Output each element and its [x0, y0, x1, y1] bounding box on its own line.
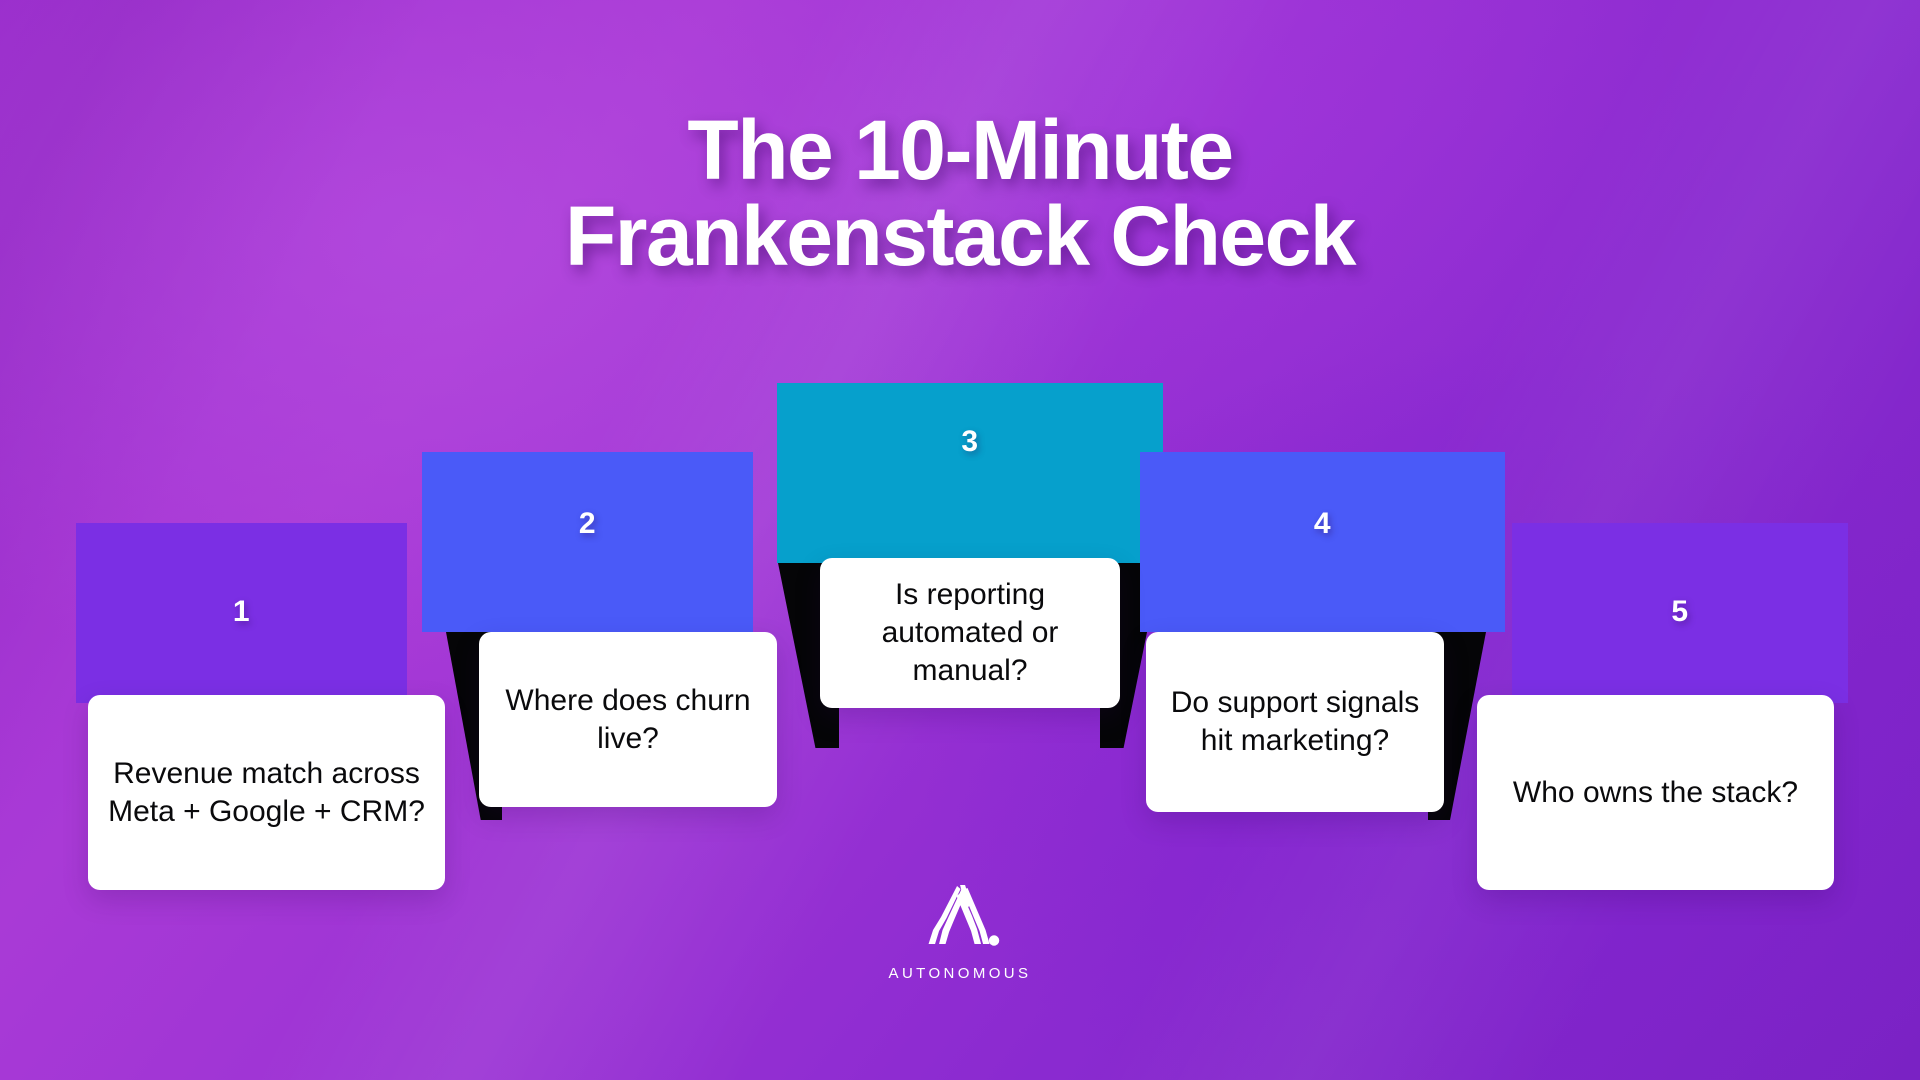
step-1-number: 1	[233, 595, 250, 629]
step-5-caption-card: Who owns the stack?	[1477, 695, 1834, 890]
autonomous-a-mark-icon	[917, 884, 1003, 958]
step-3-number: 3	[961, 425, 978, 459]
infographic-canvas: The 10-Minute Frankenstack Check 1 Reven…	[0, 0, 1920, 1080]
step-4-number-plate: 4	[1140, 452, 1505, 632]
step-2-caption-text: Where does churn live?	[497, 682, 759, 758]
step-5-number: 5	[1671, 595, 1688, 629]
step-3-number-plate: 3	[777, 383, 1163, 563]
step-1-caption-card: Revenue match across Meta + Google + CRM…	[88, 695, 445, 890]
step-5-caption-text: Who owns the stack?	[1513, 774, 1798, 812]
step-1-number-plate: 1	[76, 523, 407, 703]
title-line-2: Frankenstack Check	[0, 194, 1920, 280]
brand-logo: AUTONOMOUS	[889, 884, 1032, 982]
step-2-caption-card: Where does churn live?	[479, 632, 777, 807]
step-1-caption-text: Revenue match across Meta + Google + CRM…	[106, 755, 427, 831]
brand-wordmark: AUTONOMOUS	[889, 965, 1032, 982]
step-2-number: 2	[579, 507, 596, 541]
step-4-caption-text: Do support signals hit marketing?	[1164, 684, 1426, 760]
step-5-number-plate: 5	[1512, 523, 1848, 703]
step-4-caption-card: Do support signals hit marketing?	[1146, 632, 1444, 812]
page-title: The 10-Minute Frankenstack Check	[0, 108, 1920, 279]
step-4-number: 4	[1314, 507, 1331, 541]
title-line-1: The 10-Minute	[0, 108, 1920, 194]
step-2-number-plate: 2	[422, 452, 753, 632]
step-3-caption-text: Is reporting automated or manual?	[838, 576, 1102, 689]
step-3-caption-card: Is reporting automated or manual?	[820, 558, 1120, 708]
